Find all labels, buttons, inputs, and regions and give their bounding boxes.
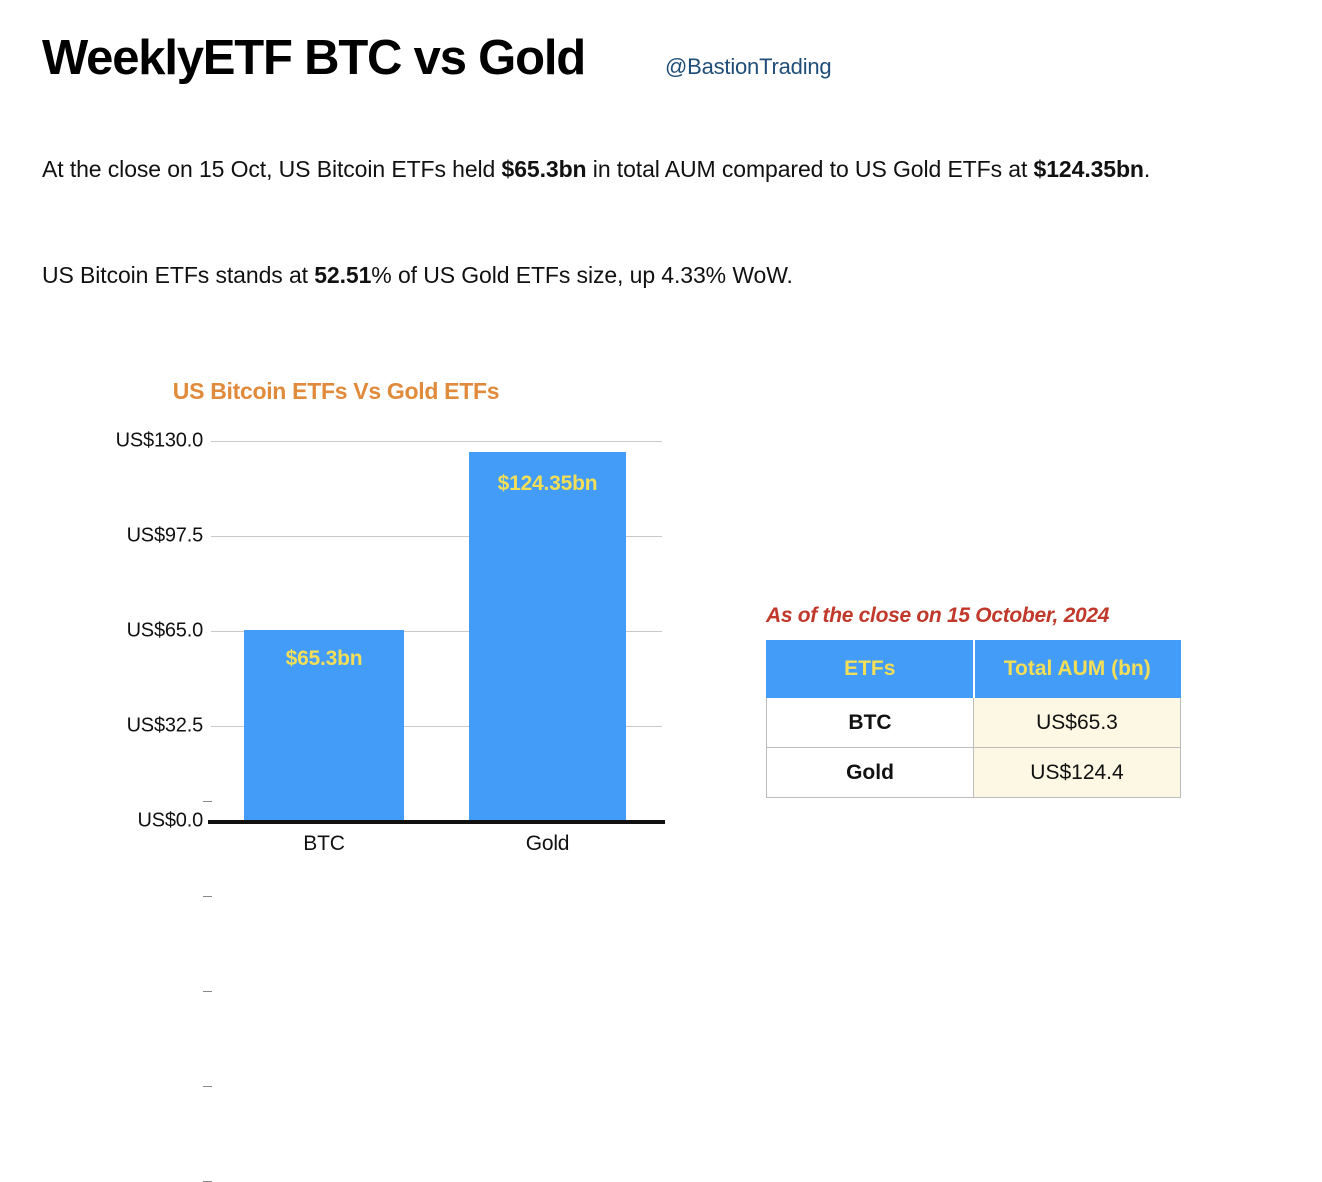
aum-table: ETFs Total AUM (bn) BTC US$65.3 Gold US$… <box>766 640 1181 798</box>
para2-bold-ratio: 52.51 <box>314 262 371 288</box>
para1-text-1: At the close on 15 Oct, US Bitcoin ETFs … <box>42 156 502 182</box>
gridline-130 <box>211 441 662 442</box>
column-header-total-aum: Total AUM (bn) <box>974 641 1181 698</box>
para2-text-1: US Bitcoin ETFs stands at <box>42 262 314 288</box>
bar-gold[interactable]: $124.35bn <box>469 452 626 821</box>
y-tick-label-65: US$65.0 <box>63 620 203 643</box>
cell-etf-gold: Gold <box>767 748 974 798</box>
para1-text-3: . <box>1144 156 1150 182</box>
y-tick-label-130: US$130.0 <box>63 430 203 453</box>
bar-btc[interactable]: $65.3bn <box>244 630 404 821</box>
summary-paragraph-1: At the close on 15 Oct, US Bitcoin ETFs … <box>42 150 1252 188</box>
y-tick-label-0: US$0.0 <box>63 810 203 833</box>
table-row: Gold US$124.4 <box>767 748 1181 798</box>
y-tick-label-32_5: US$32.5 <box>63 715 203 738</box>
page-title: WeeklyETF BTC vs Gold <box>42 34 585 83</box>
cell-etf-btc: BTC <box>767 698 974 748</box>
cell-aum-gold: US$124.4 <box>974 748 1181 798</box>
bar-label-btc: $65.3bn <box>244 647 404 671</box>
bar-label-gold: $124.35bn <box>469 472 626 496</box>
para1-text-2: in total AUM compared to US Gold ETFs at <box>587 156 1034 182</box>
x-category-btc: BTC <box>244 832 404 856</box>
y-tick-mark-32_5 <box>203 1086 212 1087</box>
para1-bold-btc-aum: $65.3bn <box>502 156 587 182</box>
cell-aum-btc: US$65.3 <box>974 698 1181 748</box>
bar-chart: US Bitcoin ETFs Vs Gold ETFs US$130.0 US… <box>0 360 700 880</box>
x-category-gold: Gold <box>469 832 626 856</box>
table-row: BTC US$65.3 <box>767 698 1181 748</box>
plot-area: $65.3bn $124.35bn <box>211 441 662 821</box>
y-tick-label-97_5: US$97.5 <box>63 525 203 548</box>
para2-text-2: % of US Gold ETFs size, up 4.33% WoW. <box>371 262 793 288</box>
aum-table-panel: As of the close on 15 October, 2024 ETFs… <box>766 604 1181 798</box>
x-axis-line <box>208 820 665 824</box>
y-tick-mark-65 <box>203 991 212 992</box>
y-tick-mark-97_5 <box>203 896 212 897</box>
y-axis: US$130.0 US$97.5 US$65.0 US$32.5 US$0.0 <box>55 441 203 821</box>
para1-bold-gold-aum: $124.35bn <box>1034 156 1144 182</box>
table-header-row: ETFs Total AUM (bn) <box>767 641 1181 698</box>
table-caption: As of the close on 15 October, 2024 <box>766 604 1181 628</box>
chart-title: US Bitcoin ETFs Vs Gold ETFs <box>0 378 672 405</box>
summary-paragraph-2: US Bitcoin ETFs stands at 52.51% of US G… <box>42 256 1252 294</box>
column-header-etfs: ETFs <box>767 641 974 698</box>
page-header: WeeklyETF BTC vs Gold @BastionTrading <box>42 34 831 83</box>
author-handle: @BastionTrading <box>665 54 832 80</box>
